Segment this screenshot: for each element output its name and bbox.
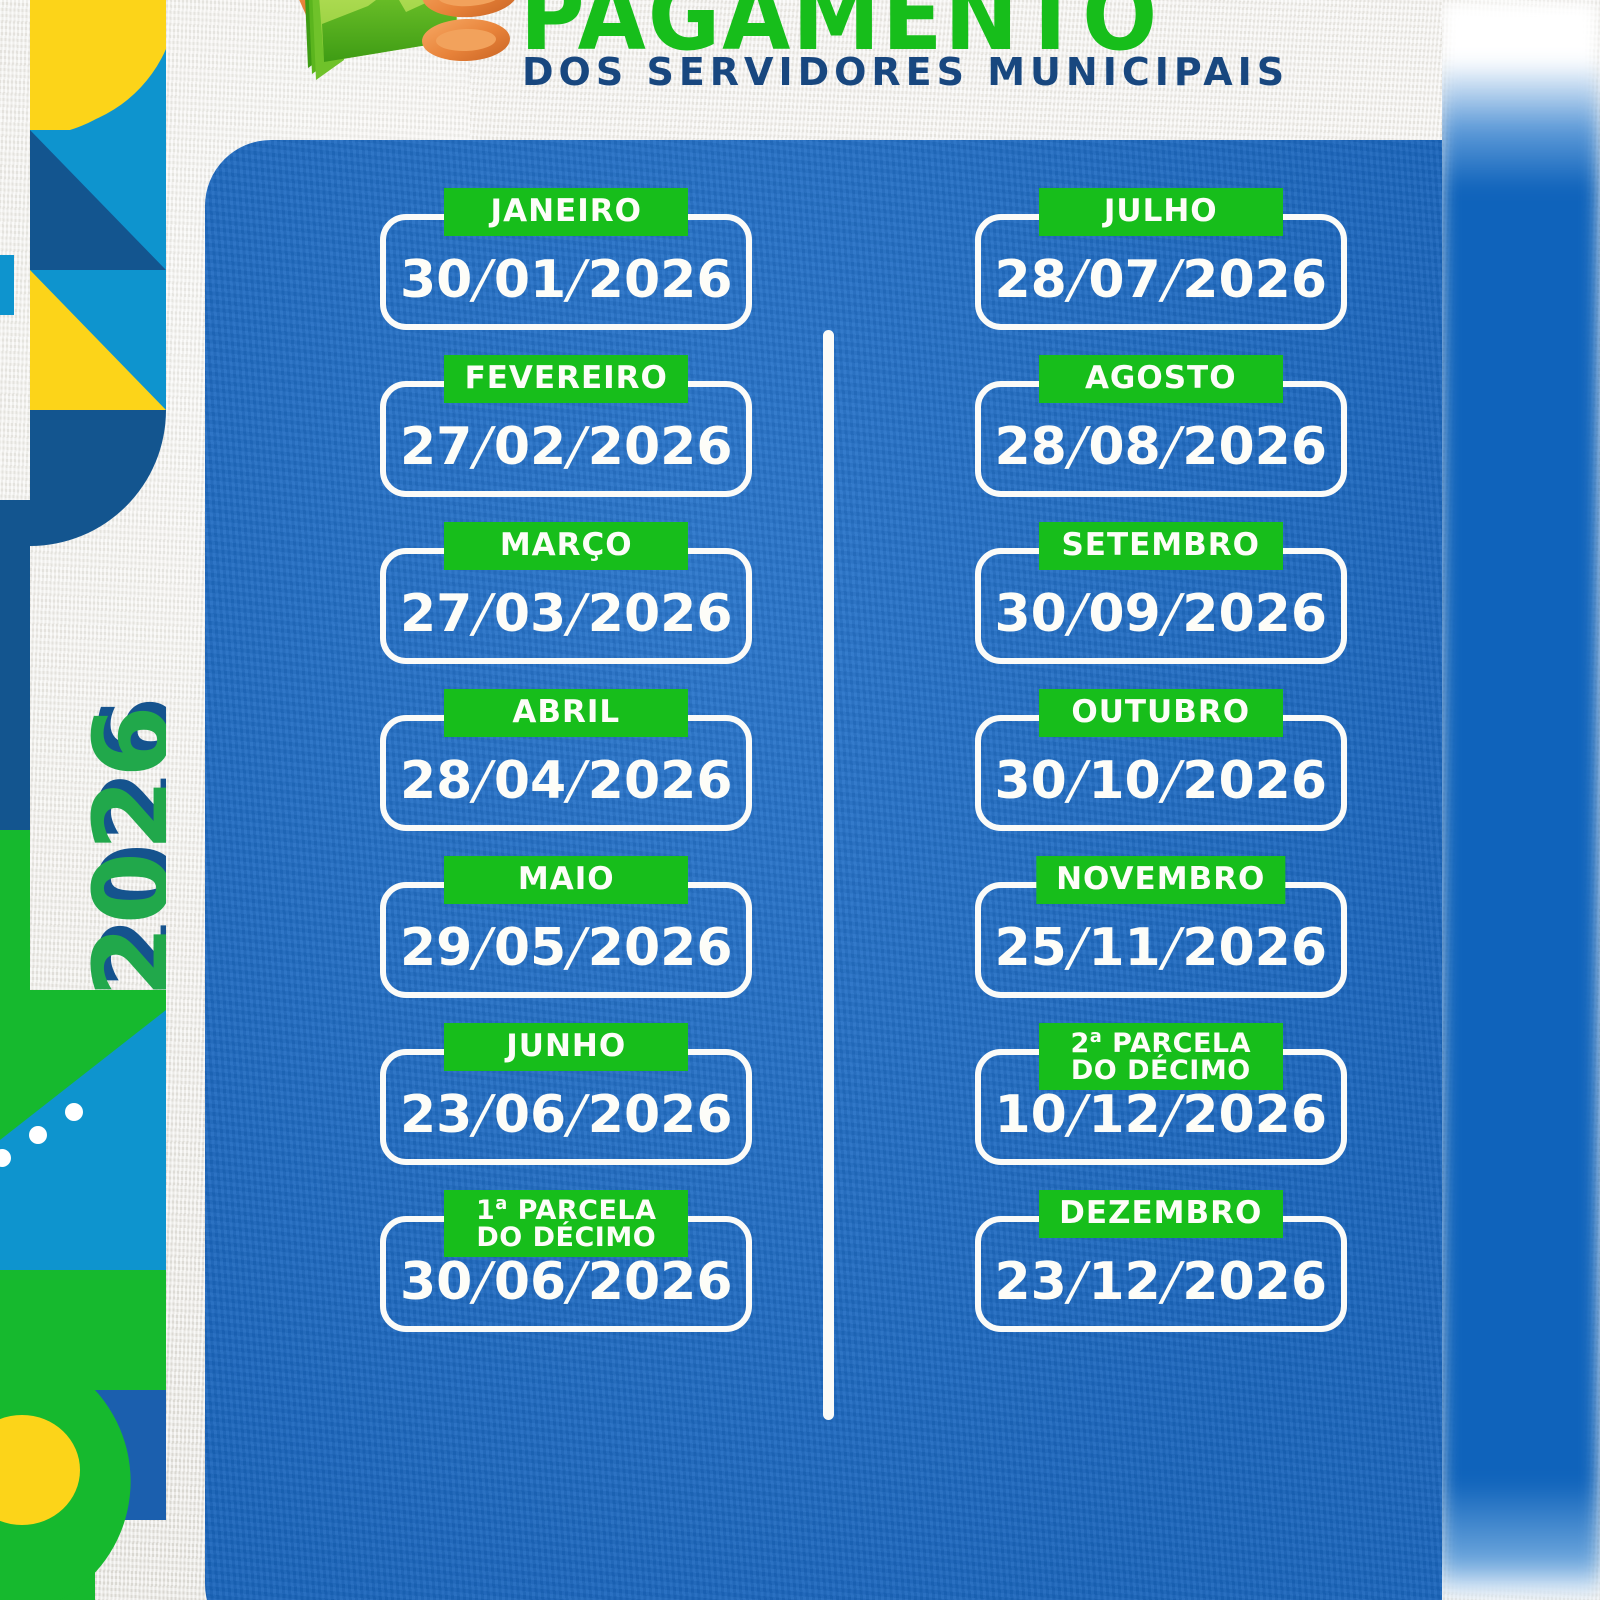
month-payment-date: 25/11/2026 <box>975 918 1347 978</box>
month-item: AGOSTO28/08/2026 <box>975 355 1347 497</box>
month-payment-date: 28/04/2026 <box>380 751 752 811</box>
schedule-card: JANEIRO30/01/2026FEVEREIRO27/02/2026MARÇ… <box>205 140 1442 1600</box>
month-label-badge: DEZEMBRO <box>1039 1190 1283 1238</box>
month-label-badge: 1a PARCELADO DÉCIMO <box>444 1190 688 1257</box>
month-item: 1a PARCELADO DÉCIMO30/06/2026 <box>380 1190 752 1332</box>
month-item: MARÇO27/03/2026 <box>380 522 752 664</box>
month-label-badge: FEVEREIRO <box>444 355 688 403</box>
decorative-strip: 2026 <box>0 0 166 1600</box>
month-payment-date: 30/10/2026 <box>975 751 1347 811</box>
month-item: FEVEREIRO27/02/2026 <box>380 355 752 497</box>
month-label-badge: MARÇO <box>444 522 688 570</box>
month-label-badge: JULHO <box>1039 188 1283 236</box>
month-label-badge: 2a PARCELADO DÉCIMO <box>1039 1023 1283 1090</box>
month-item: SETEMBRO30/09/2026 <box>975 522 1347 664</box>
month-payment-date: 23/12/2026 <box>975 1252 1347 1312</box>
month-label-badge: ABRIL <box>444 689 688 737</box>
month-payment-date: 30/01/2026 <box>380 250 752 310</box>
month-item: JUNHO23/06/2026 <box>380 1023 752 1165</box>
column-divider <box>823 330 834 1420</box>
month-item: OUTUBRO30/10/2026 <box>975 689 1347 831</box>
schedule-column-left: JANEIRO30/01/2026FEVEREIRO27/02/2026MARÇ… <box>205 140 824 1600</box>
month-payment-date: 23/06/2026 <box>380 1085 752 1145</box>
month-label-badge: SETEMBRO <box>1039 522 1283 570</box>
month-payment-date: 29/05/2026 <box>380 918 752 978</box>
month-item: 2a PARCELADO DÉCIMO10/12/2026 <box>975 1023 1347 1165</box>
month-label-badge: JUNHO <box>444 1023 688 1071</box>
month-label-badge: MAIO <box>444 856 688 904</box>
month-payment-date: 28/08/2026 <box>975 417 1347 477</box>
hand-holding-money-icon <box>258 0 520 110</box>
month-label-badge: OUTUBRO <box>1039 689 1283 737</box>
month-item: NOVEMBRO25/11/2026 <box>975 856 1347 998</box>
month-item: JANEIRO30/01/2026 <box>380 188 752 330</box>
month-item: ABRIL28/04/2026 <box>380 689 752 831</box>
month-payment-date: 30/06/2026 <box>380 1252 752 1312</box>
month-payment-date: 30/09/2026 <box>975 584 1347 644</box>
month-payment-date: 28/07/2026 <box>975 250 1347 310</box>
schedule-column-right: JULHO28/07/2026AGOSTO28/08/2026SETEMBRO3… <box>824 140 1443 1600</box>
month-item: JULHO28/07/2026 <box>975 188 1347 330</box>
payment-schedule-poster: 2026 <box>0 0 1600 1600</box>
page-subtitle: DOS SERVIDORES MUNICIPAIS <box>522 50 1289 94</box>
month-payment-date: 27/03/2026 <box>380 584 752 644</box>
month-payment-date: 10/12/2026 <box>975 1085 1347 1145</box>
right-blurred-band <box>1440 0 1600 1600</box>
month-item: DEZEMBRO23/12/2026 <box>975 1190 1347 1332</box>
poster-header: PAGAMENTO DOS SERVIDORES MUNICIPAIS <box>0 0 1442 148</box>
month-label-badge: NOVEMBRO <box>1036 856 1285 904</box>
month-payment-date: 27/02/2026 <box>380 417 752 477</box>
month-item: MAIO29/05/2026 <box>380 856 752 998</box>
month-label-badge: AGOSTO <box>1039 355 1283 403</box>
month-label-badge: JANEIRO <box>444 188 688 236</box>
